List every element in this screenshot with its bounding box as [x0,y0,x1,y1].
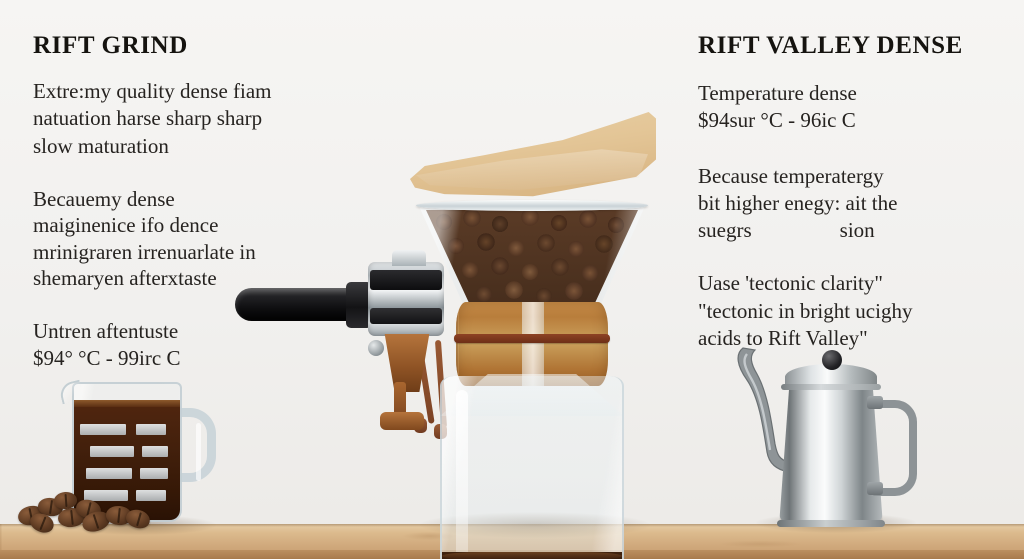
right-block-1-line-2: $94sur °C - 96ic C [698,107,1018,134]
left-block-2-line-3: mrinigraren irrenuarlate in [33,239,363,265]
right-block-2-line-1: Because temperatergy [698,163,1018,190]
graduation-mark [86,468,132,479]
kettle-handle-lower-mount [867,482,883,495]
portafilter-screw [368,340,384,356]
right-block-3-line-2: "tectonic in bright ucighy [698,298,1018,325]
cone-rim [416,200,648,211]
right-block-1-line-1: Temperature dense [698,80,1018,107]
portafilter-upper-band [370,270,442,290]
left-block-2-line-1: Becauemy dense [33,186,363,212]
copper-funnel [376,334,438,392]
copper-base [380,412,424,430]
portafilter-cap [392,250,426,266]
right-heading: RIFT VALLEY DENSE [698,32,1018,60]
graduation-mark [140,468,168,479]
brewed-coffee-in-carafe [442,552,622,559]
kettle-lid-rim [781,384,881,390]
left-block-3-line-1: Untren aftentuste [33,318,363,345]
left-block-1: Extre:my quality dense fiam natuation ha… [33,78,363,160]
right-block-2: Because temperatergy bit higher enegy: a… [698,163,1018,245]
graduation-mark [90,446,134,457]
graduation-mark [80,424,126,435]
left-block-2: Becauemy dense maiginenice ifo dence mri… [33,186,363,292]
left-heading: RIFT GRIND [33,32,363,60]
left-block-1-line-3: slow maturation [33,133,363,160]
left-block-3: Untren aftentuste $94° °C - 99irc C [33,318,363,373]
left-block-1-line-1: Extre:my quality dense fiam [33,78,363,105]
gooseneck-kettle [733,340,933,530]
wood-collar [456,302,608,386]
right-block-3-line-1: Uase 'tectonic clarity" [698,270,1018,297]
kettle-knob [822,350,842,370]
infographic-canvas: RIFT GRIND Extre:my quality dense fiam n… [0,0,1024,559]
right-block-2-line-3a: suegrs [698,218,752,242]
graduation-mark [136,424,166,435]
kettle-base [777,520,885,527]
right-block-2-line-3b: sion [840,218,875,242]
coffee-bean-pile [18,490,168,530]
portafilter-lower-band [370,308,442,324]
portafilter-handle [235,288,355,321]
kettle-handle-upper-mount [867,396,883,409]
left-block-1-line-2: natuation harse sharp sharp [33,105,363,132]
right-block-2-line-3: suegrssion [698,217,1018,244]
graduation-mark [142,446,168,457]
leather-tie-band [454,334,610,343]
left-block-3-line-2: $94° °C - 99irc C [33,345,363,372]
right-block-2-line-2: bit higher enegy: ait the [698,190,1018,217]
right-block-1: Temperature dense $94sur °C - 96ic C [698,80,1018,135]
collar-glass-notch [522,302,544,386]
pour-over-brewer [398,112,666,530]
right-text-column: RIFT VALLEY DENSE Temperature dense $94s… [698,0,1018,352]
coffee-surface [442,552,622,559]
glass-carafe [440,376,624,559]
carafe-highlight [456,390,468,559]
left-block-2-line-2: maiginenice ifo dence [33,212,363,238]
